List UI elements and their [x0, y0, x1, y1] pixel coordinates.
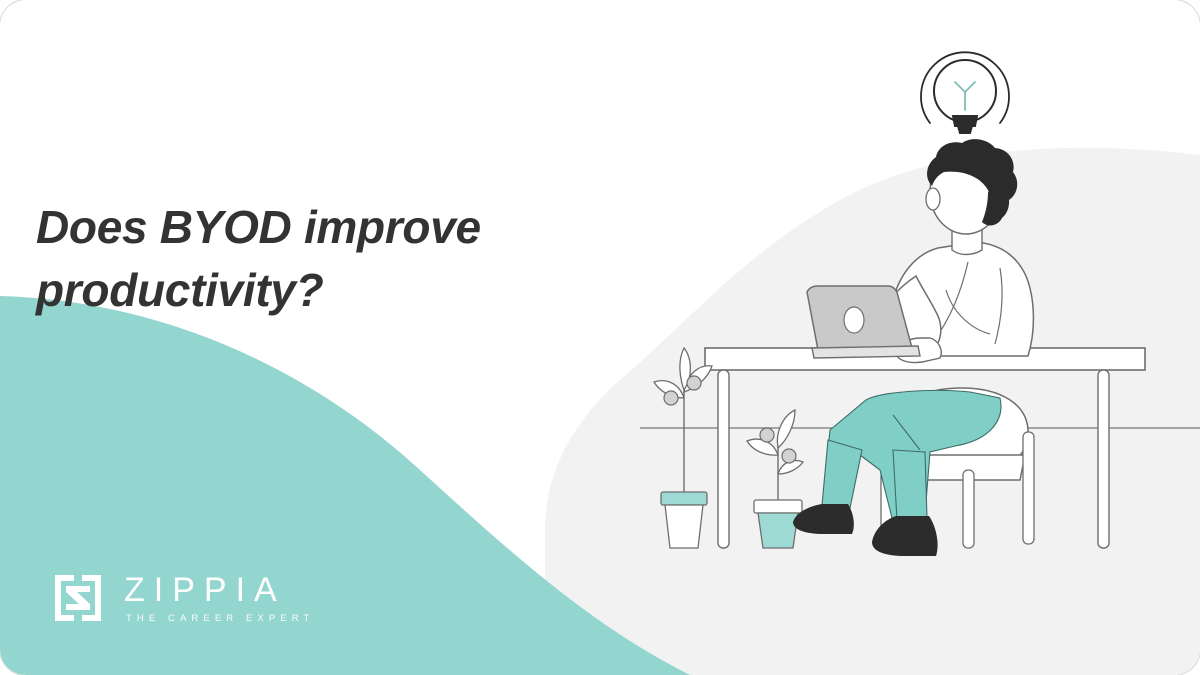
zippia-logo[interactable]: ZIPPIA THE CAREER EXPERT	[52, 572, 314, 624]
brand-wordmark: ZIPPIA THE CAREER EXPERT	[124, 573, 314, 624]
laptop-logo-icon	[844, 307, 864, 333]
brand-name: ZIPPIA	[124, 573, 314, 607]
plant-pot-body-right	[758, 513, 798, 548]
zippia-z-mark-icon	[52, 572, 104, 624]
plant-pot-rim-right	[754, 500, 802, 513]
plant-pot-body-left	[665, 505, 703, 548]
hero-card: Does BYOD improve productivity? ZIPPIA T…	[0, 0, 1200, 675]
brand-tagline: THE CAREER EXPERT	[126, 614, 314, 624]
plant-pot-rim-left	[661, 492, 707, 505]
